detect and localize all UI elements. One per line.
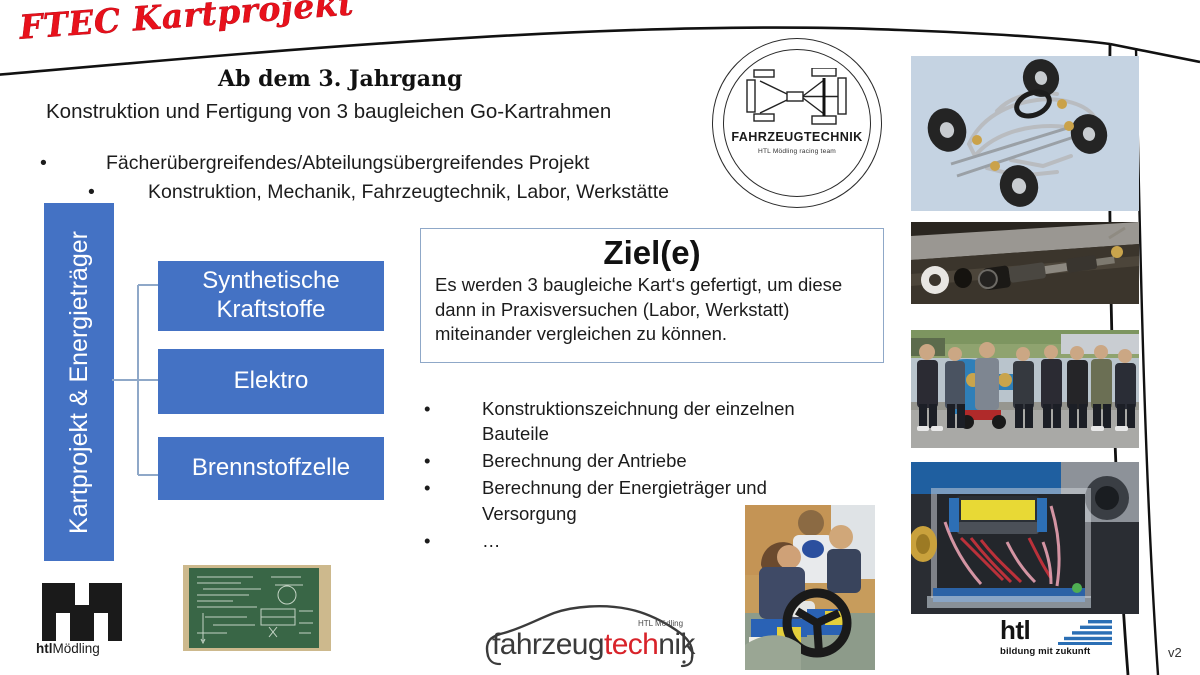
circle-logo-name: FAHRZEUGTECHNIK xyxy=(712,130,882,144)
goal-list-item: • Berechnung der Antriebe xyxy=(424,448,854,473)
bracket-connector xyxy=(112,255,164,505)
energy-option-label-line1: Synthetische xyxy=(202,267,339,296)
circle-logo-subtitle: HTL Mödling racing team xyxy=(712,148,882,155)
ft-word-part3: nik xyxy=(658,628,695,661)
header-bullet-level1: •Fächerübergreifendes/Abteilungsübergrei… xyxy=(40,152,589,175)
presentation-slide: FTEC Kartprojekt Ab dem 3. Jahrgang Kons… xyxy=(0,0,1200,675)
ft-word-part2: tech xyxy=(604,628,658,661)
chalkboard-calculation-photo xyxy=(183,565,331,651)
page-title: FTEC Kartprojekt xyxy=(18,0,355,47)
goal-panel-title: Ziel(e) xyxy=(435,235,869,271)
subtitle-primary: Ab dem 3. Jahrgang xyxy=(218,66,462,92)
bullet-marker-icon: • xyxy=(424,448,430,473)
version-label: v2 xyxy=(1168,645,1182,660)
fahrzeugtechnik-wordmark: fahrzeugtechnik xyxy=(492,628,695,662)
htl-bildung-logo: htl bildung mit zukunft xyxy=(1000,617,1116,663)
htl-moedling-logo: htlMödling xyxy=(36,583,132,661)
goal-list-item-text: Konstruktionszeichnung der einzelnen Bau… xyxy=(482,398,795,444)
bullet-marker-icon: • xyxy=(424,475,430,500)
htl-moedling-plain: Mödling xyxy=(53,641,100,656)
bullet-marker-icon: • xyxy=(424,528,430,553)
energy-option-label-line2: Kraftstoffe xyxy=(202,296,339,325)
drivetrain-shaft-photo xyxy=(911,222,1139,304)
slide-title-block: FTEC Kartprojekt xyxy=(18,0,355,47)
right-frame-line-outer xyxy=(1136,48,1158,675)
goal-list-item: • Konstruktionszeichnung der einzelnen B… xyxy=(424,396,854,446)
electrical-wiring-compartment-photo xyxy=(911,462,1139,614)
subtitle-secondary: Konstruktion und Fertigung von 3 bauglei… xyxy=(46,100,611,124)
fahrzeugtechnik-sub: HTL Mödling xyxy=(638,619,683,628)
goal-panel-body: Es werden 3 baugleiche Kart‘s gefertigt,… xyxy=(435,273,869,346)
htl-moedling-wordmark: htlMödling xyxy=(36,641,132,656)
goal-list-item-text: Berechnung der Energieträger und Versorg… xyxy=(482,477,767,523)
category-bar-kartprojekt-energietraeger: Kartprojekt & Energieträger xyxy=(44,203,114,561)
header-bullet-level1-text: Fächerübergreifendes/Abteilungsübergreif… xyxy=(106,152,589,174)
stairs-icon xyxy=(1058,619,1114,645)
fahrzeugtechnik-wordmark-logo: HTL Mödling fahrzeugtechnik xyxy=(478,600,710,670)
energy-option-box-elektro[interactable]: Elektro xyxy=(158,349,384,414)
goal-panel: Ziel(e) Es werden 3 baugleiche Kart‘s ge… xyxy=(420,228,884,363)
htl-bildung-tagline: bildung mit zukunft xyxy=(1000,646,1090,657)
goal-list-item-text: … xyxy=(482,530,501,551)
workshop-students-kart-photo xyxy=(745,505,875,670)
htl-moedling-bold: htl xyxy=(36,641,53,656)
ft-word-part1: fahrzeug xyxy=(492,628,604,661)
energy-option-box-synthetische-kraftstoffe[interactable]: Synthetische Kraftstoffe xyxy=(158,261,384,331)
fahrzeugtechnik-circle-logo: FAHRZEUGTECHNIK HTL Mödling racing team xyxy=(712,38,882,208)
header-bullet-level2-text: Konstruktion, Mechanik, Fahrzeugtechnik,… xyxy=(148,181,669,203)
goal-list-item-text: Berechnung der Antriebe xyxy=(482,450,687,471)
kart-frame-cad-render xyxy=(911,56,1139,211)
energy-option-box-brennstoffzelle[interactable]: Brennstoffzelle xyxy=(158,437,384,500)
energy-option-label: Elektro xyxy=(234,367,309,396)
bullet-marker-icon: • xyxy=(88,181,148,204)
header-bullet-level2: •Konstruktion, Mechanik, Fahrzeugtechnik… xyxy=(88,181,669,204)
htl-bildung-wordmark: htl xyxy=(1000,617,1030,643)
bullet-marker-icon: • xyxy=(40,152,106,175)
kart-chassis-icon xyxy=(746,68,848,126)
student-group-with-kart-photo xyxy=(911,330,1139,448)
bullet-marker-icon: • xyxy=(424,396,430,421)
htl-m-mark-icon xyxy=(42,583,122,641)
category-bar-label: Kartprojekt & Energieträger xyxy=(67,231,92,534)
energy-option-label: Brennstoffzelle xyxy=(192,454,350,483)
